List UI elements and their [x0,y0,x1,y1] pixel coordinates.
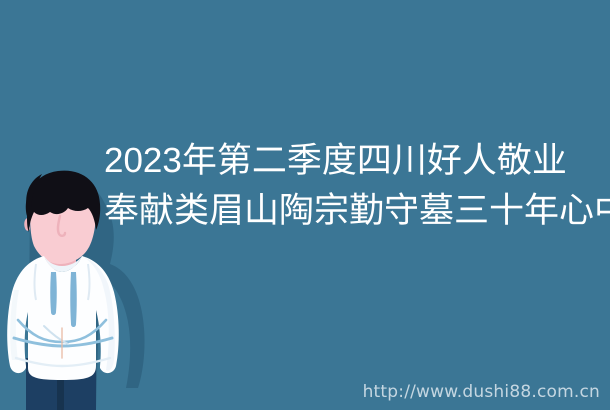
headline-line-2: 奉献类眉山陶宗勤守墓三十年心中 [104,186,610,236]
watermark-url: http://www.dushi88.com.cn [363,382,600,402]
hoodie-shape [7,256,119,380]
face-shape [30,174,96,264]
nose-line [58,216,65,236]
pants-group [26,358,96,410]
hair-group [26,171,100,232]
drawstring-group [50,272,77,327]
neck-group [46,230,76,270]
headline: 2023年第二季度四川好人敬业 奉献类眉山陶宗勤守墓三十年心中 [104,136,610,236]
promo-banner: 2023年第二季度四川好人敬业 奉献类眉山陶宗勤守墓三十年心中 http://w… [0,0,610,410]
head-group [24,174,96,264]
pocket-lines-group [14,320,112,366]
hair-shape [26,171,100,232]
headline-line-1: 2023年第二季度四川好人敬业 [104,136,610,186]
hoodie-group [7,256,119,380]
